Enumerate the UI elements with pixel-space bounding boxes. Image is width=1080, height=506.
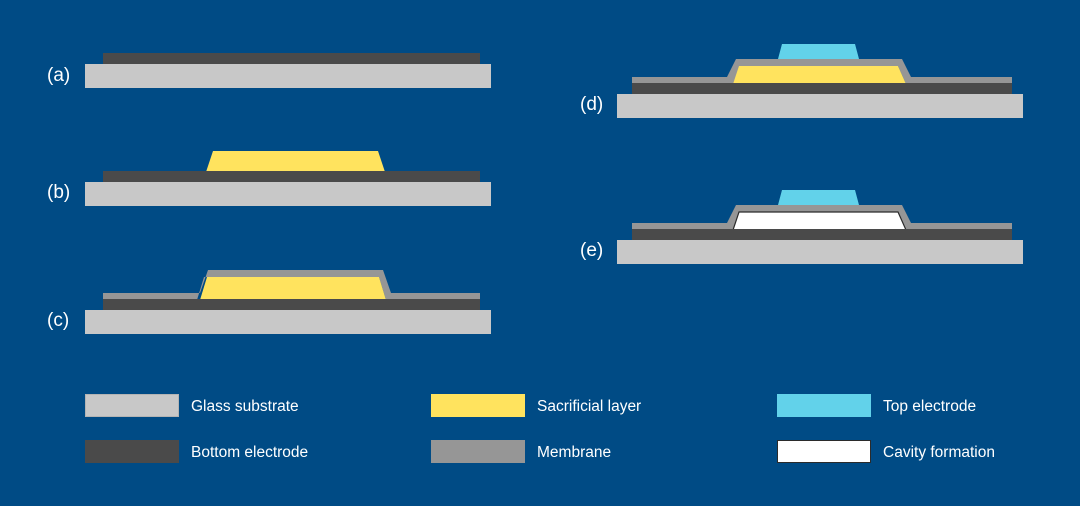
panel-e-top-electrode: [778, 190, 859, 205]
panel-c-sacrificial-layer: [200, 277, 386, 300]
legend-label-sacrificial-layer: Sacrificial layer: [537, 399, 641, 415]
panel-d-label: (d): [580, 94, 603, 115]
panel-d: (d): [580, 44, 1023, 118]
legend-label-membrane: Membrane: [537, 445, 611, 461]
panel-d-bottom-electrode: [632, 83, 1012, 94]
legend-swatch-cavity-formation: [777, 440, 871, 463]
legend-label-cavity-formation: Cavity formation: [883, 445, 995, 461]
panel-e-cavity-formation: [733, 212, 906, 230]
panel-b-sacrificial-layer: [206, 151, 385, 172]
panel-a-label: (a): [47, 65, 70, 86]
panel-b-bottom-electrode: [103, 171, 480, 182]
legend-swatch-sacrificial-layer: [431, 394, 525, 417]
figure-canvas: (a) (b) (c) (d): [0, 0, 1080, 506]
panel-c-glass-substrate: [85, 310, 491, 334]
panel-b-glass-substrate: [85, 182, 491, 206]
panel-c: (c): [47, 270, 491, 334]
panel-a: (a): [47, 53, 491, 88]
panel-b-label: (b): [47, 182, 70, 203]
panel-c-bottom-electrode: [103, 299, 480, 310]
panel-a-glass-substrate: [85, 64, 491, 88]
panel-d-sacrificial-layer: [733, 66, 906, 84]
legend-label-top-electrode: Top electrode: [883, 399, 976, 415]
legend-label-glass-substrate: Glass substrate: [191, 399, 299, 415]
panel-d-top-electrode: [778, 44, 859, 59]
panel-e: (e): [580, 190, 1023, 264]
panel-c-label: (c): [47, 310, 69, 331]
legend-swatch-membrane: [431, 440, 525, 463]
panel-e-label: (e): [580, 240, 603, 261]
panel-a-bottom-electrode: [103, 53, 480, 64]
legend-swatch-bottom-electrode: [85, 440, 179, 463]
legend-swatch-glass-substrate: [85, 394, 179, 417]
panel-e-glass-substrate: [617, 240, 1023, 264]
panel-e-bottom-electrode: [632, 229, 1012, 240]
panel-d-glass-substrate: [617, 94, 1023, 118]
panel-b: (b): [47, 151, 491, 206]
legend-label-bottom-electrode: Bottom electrode: [191, 445, 308, 461]
legend-swatch-top-electrode: [777, 394, 871, 417]
process-flow-diagram: (a) (b) (c) (d): [0, 0, 1080, 506]
